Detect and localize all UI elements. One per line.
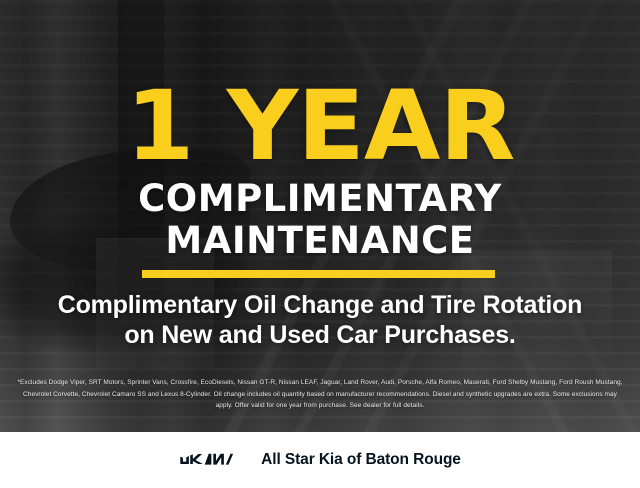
- disclaimer-text: *Excludes Dodge Viper, SRT Motors, Sprin…: [14, 377, 626, 412]
- offer-line-2: on New and Used Car Purchases.: [0, 320, 640, 350]
- offer-line-1: Complimentary Oil Change and Tire Rotati…: [0, 290, 640, 320]
- yellow-divider-rule: [142, 270, 495, 278]
- headline-primary: 1 YEAR: [0, 78, 640, 174]
- hero-content: 1 YEAR COMPLIMENTARY MAINTENANCE Complim…: [0, 0, 640, 432]
- kia-logo-icon: [179, 450, 245, 470]
- offer-description: Complimentary Oil Change and Tire Rotati…: [0, 290, 640, 350]
- footer-bar: All Star Kia of Baton Rouge: [0, 432, 640, 488]
- headline-secondary-line-2: MAINTENANCE: [0, 222, 640, 259]
- headline-secondary-line-1: COMPLIMENTARY: [0, 180, 640, 217]
- hero-section: 1 YEAR COMPLIMENTARY MAINTENANCE Complim…: [0, 0, 640, 432]
- promo-banner: 1 YEAR COMPLIMENTARY MAINTENANCE Complim…: [0, 0, 640, 488]
- dealer-name: All Star Kia of Baton Rouge: [261, 451, 461, 469]
